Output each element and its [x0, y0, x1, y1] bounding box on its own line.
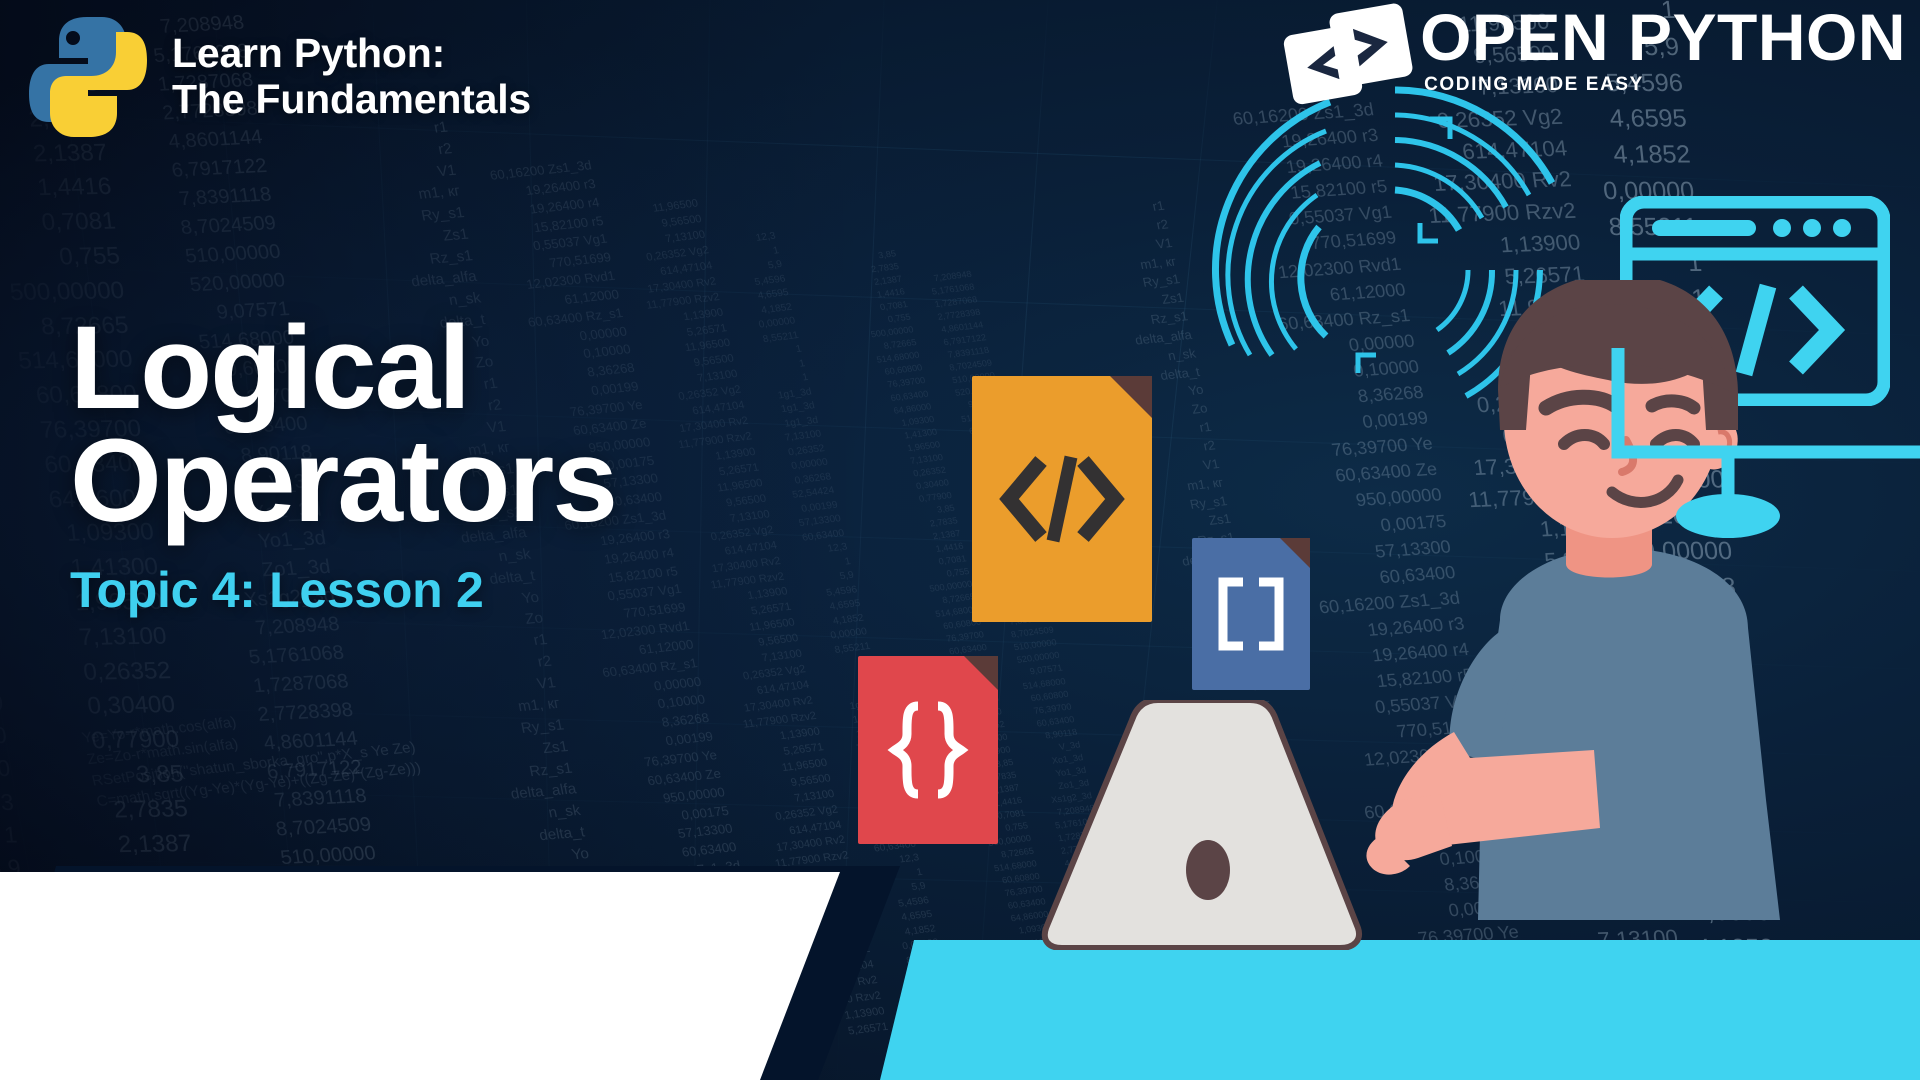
brand-logo: OPEN PYTHON CODING MADE EASY [1288, 4, 1906, 100]
brand-tagline: CODING MADE EASY [1424, 74, 1906, 96]
laptop-icon [1040, 700, 1460, 950]
brand-name: OPEN PYTHON [1420, 6, 1906, 69]
brand-text: OPEN PYTHON CODING MADE EASY [1420, 4, 1906, 96]
code-tags-icon [997, 451, 1127, 547]
lesson-subtitle: Topic 4: Lesson 2 [70, 561, 616, 619]
object-file-card [858, 656, 998, 844]
brand-mark-group [1288, 8, 1414, 100]
white-band [0, 872, 840, 1080]
array-file-card [1192, 538, 1310, 690]
curly-braces-icon [885, 698, 971, 802]
page-fold-corner [1110, 376, 1152, 418]
angle-bracket-right-icon [1328, 2, 1414, 88]
course-title: Learn Python: The Fundamentals [172, 31, 531, 123]
slide-canvas: 12,315,95,45964,65954,18520,000008,55211… [0, 0, 1920, 1080]
network-node-icon [1560, 330, 1920, 590]
code-file-card [972, 376, 1152, 622]
page-fold-corner [964, 656, 998, 690]
page-title: Logical Operators [70, 312, 616, 539]
course-header: Learn Python: The Fundamentals [26, 14, 531, 140]
python-logo-icon [26, 14, 150, 140]
square-brackets-icon [1215, 576, 1287, 652]
title-block: Logical Operators Topic 4: Lesson 2 [70, 312, 616, 619]
page-fold-corner [1280, 538, 1310, 568]
